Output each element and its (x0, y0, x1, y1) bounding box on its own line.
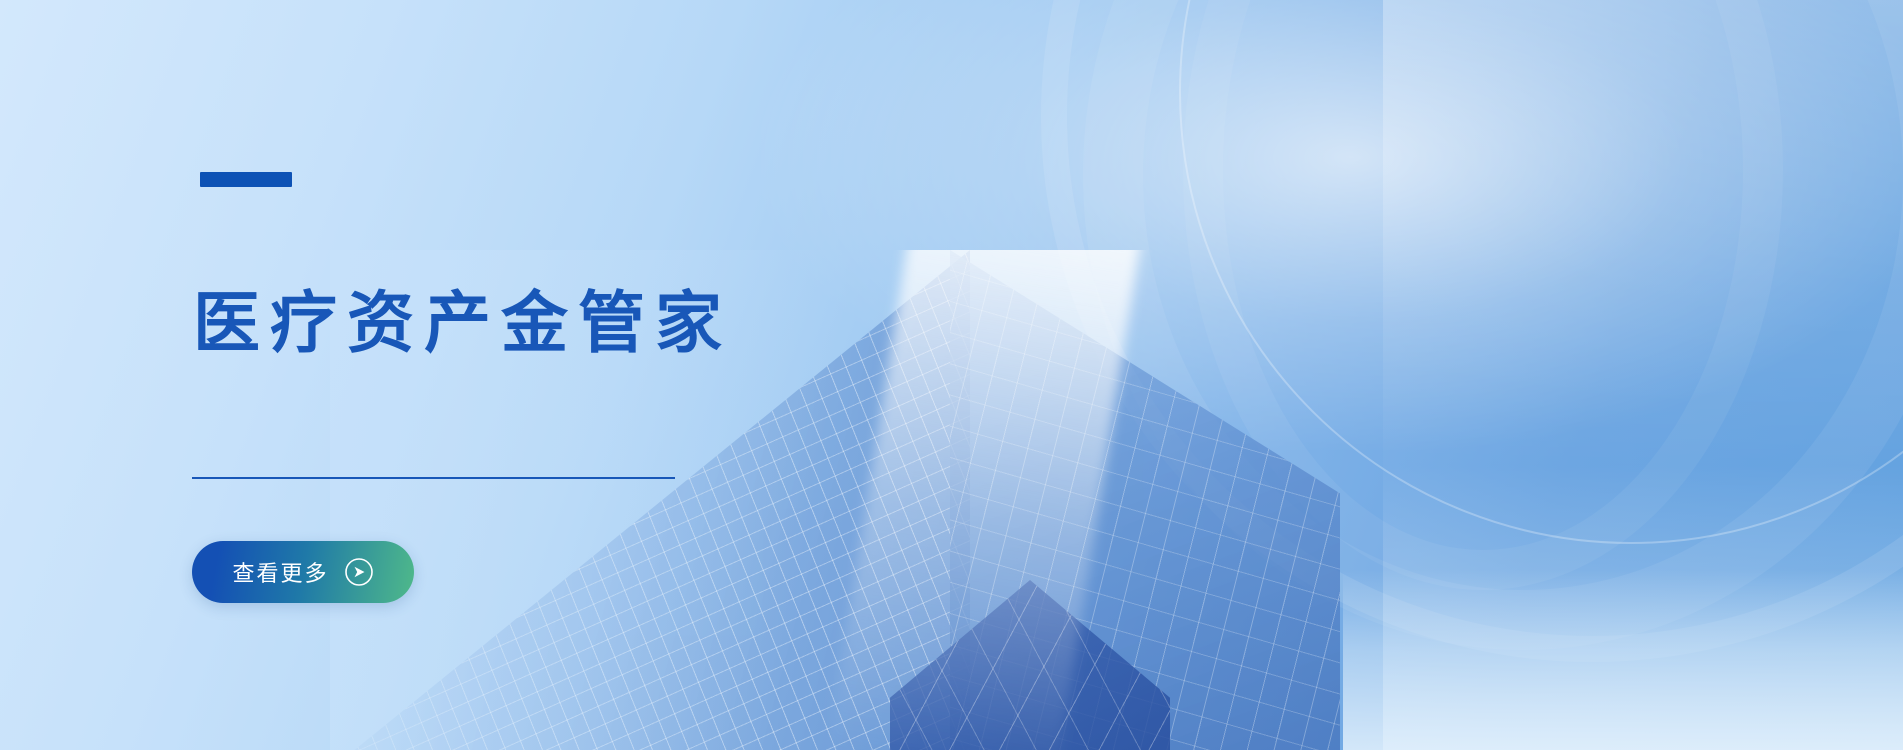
arrow-right-circle-icon (344, 557, 374, 587)
service-card-list: 服务于 临床科室 以专业高效的技术和质控服务，助力临 床科室保障医疗设备的 安全… (1083, 0, 1903, 750)
section-divider (192, 477, 675, 479)
hero-banner: 医疗资产金管家 查看更多 服务于 临床科室 以专业高效的技术 (0, 0, 1903, 750)
page-title: 医疗资产金管家 (193, 290, 732, 357)
accent-dash (200, 172, 292, 187)
view-more-button[interactable]: 查看更多 (192, 541, 414, 603)
view-more-label: 查看更多 (232, 556, 328, 588)
hero-left-column: 医疗资产金管家 查看更多 (0, 0, 760, 750)
